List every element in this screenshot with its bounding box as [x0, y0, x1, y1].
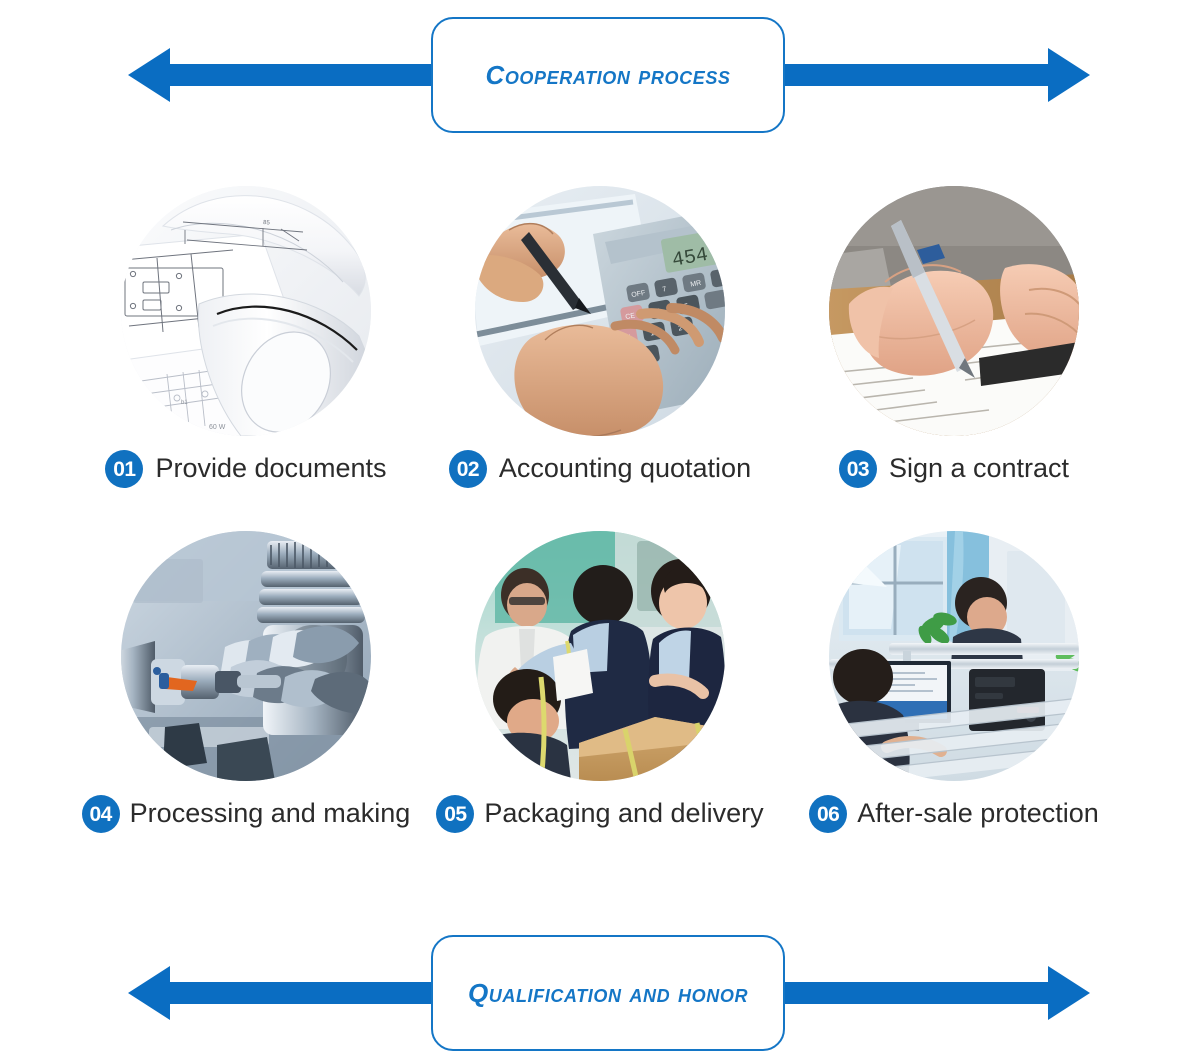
step-number-badge: 04: [82, 795, 120, 833]
office-support-photo: [829, 531, 1079, 781]
step-number-badge: 05: [436, 795, 474, 833]
banner-title-box: Qualification and honor: [431, 935, 785, 1051]
svg-text:60 W: 60 W: [209, 424, 226, 431]
step-caption: 01 Provide documents: [60, 450, 432, 488]
step-item-05[interactable]: 05 Packaging and delivery: [414, 531, 786, 833]
step-image-wrap: [829, 186, 1079, 436]
banner-title-text: Qualification and honor: [468, 978, 748, 1009]
step-number-badge: 03: [839, 450, 877, 488]
process-steps: 60 W b1: [0, 186, 1200, 876]
step-label: Provide documents: [155, 454, 386, 484]
step-caption: 02 Accounting quotation: [414, 450, 786, 488]
step-label: Processing and making: [130, 799, 411, 829]
banner-title-text: Cooperation process: [485, 60, 730, 91]
step-label: Sign a contract: [889, 454, 1069, 484]
step-item-03[interactable]: 03 Sign a contract: [768, 186, 1140, 488]
step-image-wrap: [475, 531, 725, 781]
step-caption: 03 Sign a contract: [768, 450, 1140, 488]
step-item-06[interactable]: 06 After-sale protection: [768, 531, 1140, 833]
step-label: After-sale protection: [857, 799, 1099, 829]
cnc-machining-photo: [121, 531, 371, 781]
step-label: Packaging and delivery: [484, 799, 763, 829]
calculator-hands-photo: 454: [475, 186, 725, 436]
svg-text:b1: b1: [181, 400, 188, 406]
step-caption: 06 After-sale protection: [768, 795, 1140, 833]
step-image-wrap: [121, 531, 371, 781]
step-item-02[interactable]: 454: [414, 186, 786, 488]
step-item-01[interactable]: 60 W b1: [60, 186, 432, 488]
step-item-04[interactable]: 04 Processing and making: [60, 531, 432, 833]
cooperation-process-banner: Cooperation process: [0, 12, 1200, 138]
step-image-wrap: 454: [475, 186, 725, 436]
step-label: Accounting quotation: [499, 454, 751, 484]
step-caption: 04 Processing and making: [60, 795, 432, 833]
steps-row-1: 60 W b1: [0, 186, 1200, 531]
signing-contract-photo: [829, 186, 1079, 436]
banner-title-box: Cooperation process: [431, 17, 785, 133]
step-image-wrap: 60 W b1: [121, 186, 371, 436]
step-number-badge: 02: [449, 450, 487, 488]
step-image-wrap: [829, 531, 1079, 781]
step-caption: 05 Packaging and delivery: [414, 795, 786, 833]
packaging-workers-photo: [475, 531, 725, 781]
steps-row-2: 04 Processing and making: [0, 531, 1200, 876]
qualification-and-honor-banner: Qualification and honor: [0, 930, 1200, 1056]
svg-text:85: 85: [263, 220, 271, 226]
step-number-badge: 06: [809, 795, 847, 833]
rolled-blueprints-photo: 60 W b1: [121, 186, 371, 436]
step-number-badge: 01: [105, 450, 143, 488]
